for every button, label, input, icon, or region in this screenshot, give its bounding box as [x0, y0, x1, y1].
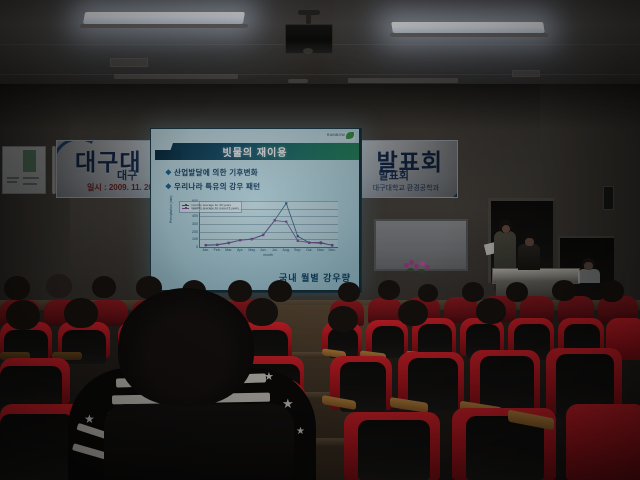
- banner-organizer: 대구대학교 환경공학과: [373, 183, 439, 193]
- projector-pole: [306, 14, 311, 24]
- chart-y-tick-label: 0: [196, 245, 198, 249]
- person-in-back-alcove: [578, 258, 600, 282]
- chart-gridline: [200, 216, 338, 217]
- chart-y-tick-label: 200: [192, 230, 198, 234]
- audience-head: [328, 306, 358, 332]
- chart-x-tick-label: Jun.: [260, 248, 267, 252]
- chart-legend-swatch-icon: [182, 205, 189, 206]
- audience-head: [418, 284, 438, 302]
- flower-arrangement: [402, 258, 432, 274]
- jacket-star-icon: ★: [296, 426, 305, 437]
- chart-x-tick-label: Apr.: [237, 248, 243, 252]
- projector-lens-icon: [303, 48, 313, 54]
- back-person-face: [584, 262, 593, 270]
- audience-head: [6, 300, 40, 330]
- chart-x-tick-label: Jul.: [272, 248, 278, 252]
- audience-head: [228, 280, 252, 302]
- chart-x-tick-label: Oct.: [306, 248, 313, 252]
- wall-shadow: [0, 84, 640, 130]
- chart-x-tick-label: Dec.: [329, 248, 336, 252]
- audience-head: [552, 280, 576, 301]
- auditorium-scene: 대구대 발표회 대구 발표회 일시 : 2009. 11. 20(금) 대구대학…: [0, 0, 640, 480]
- chart-point-marker: [285, 202, 287, 204]
- chart-point-marker: [285, 221, 287, 223]
- jacket-star-icon: ★: [264, 372, 274, 383]
- chart-x-tick-label: Sep.: [294, 248, 301, 252]
- chart-y-tick-label: 300: [192, 222, 198, 226]
- slide-title: 빗물의 재이용: [151, 143, 359, 160]
- chart-point-marker: [320, 241, 322, 243]
- flower-leaf: [418, 269, 425, 273]
- seat-back-panel: [0, 414, 74, 480]
- banner-subtitle-right: 발표회: [379, 167, 409, 183]
- wall-plate-icon: [603, 186, 614, 210]
- fluorescent-light-left: [83, 12, 245, 24]
- flower-petal: [414, 264, 419, 269]
- chart-x-tick-label: Aug.: [283, 248, 290, 252]
- chart-gridline: [200, 224, 338, 225]
- vent-left-icon: [110, 58, 148, 67]
- chart-x-tick-label: Nov.: [317, 248, 324, 252]
- seated-operator-face: [525, 238, 534, 246]
- audience-head: [338, 282, 360, 302]
- audience-head: [246, 298, 278, 326]
- slide-bullet-1-text: 산업발달에 의한 기후변화: [174, 168, 258, 177]
- vent-left-slim: [114, 74, 238, 79]
- slide-bullet-1: ❖산업발달에 의한 기후변화: [165, 167, 258, 178]
- banner-subtitle-left: 대구: [117, 167, 137, 183]
- slide-caption: 국내 월별 강우량: [279, 271, 351, 284]
- chart-point-marker: [297, 235, 299, 237]
- slide-bullet-2: ❖우리나라 특유의 강우 패턴: [165, 181, 260, 192]
- foreground-attendee-head: [118, 288, 254, 406]
- audience-head: [92, 276, 116, 298]
- poster-graphic: [23, 150, 36, 172]
- presentation-slide: 빗물의 재이용 RAINBOW ❖산업발달에 의한 기후변화 ❖우리나라 특유의…: [151, 129, 359, 290]
- flower-petal: [420, 261, 425, 266]
- vent-right-slim: [348, 78, 458, 83]
- bullet-marker-icon: ❖: [165, 168, 172, 177]
- flower-petal: [409, 260, 414, 265]
- chart-legend-item-1: monthly average for recent 5 years: [182, 207, 239, 210]
- flower-petal: [425, 265, 430, 270]
- poster-text-line: [7, 181, 17, 183]
- seated-operator-body: [518, 244, 540, 270]
- light-housing-right: [390, 33, 549, 37]
- audience-head: [600, 280, 624, 302]
- audience-head: [398, 300, 428, 326]
- vent-right-icon: [512, 70, 540, 77]
- jacket-star-icon: ★: [84, 414, 95, 425]
- chart-x-axis-title: month: [263, 253, 272, 257]
- chart-x-tick-label: May: [248, 248, 255, 252]
- chart-point-marker: [308, 241, 310, 243]
- audience-head: [64, 298, 98, 328]
- poster-text-line: [23, 183, 37, 185]
- chart-point-marker: [228, 242, 230, 244]
- foreground-seat-back-panel: [104, 404, 294, 480]
- chart-point-marker: [262, 234, 264, 236]
- slide-logo-text: RAINBOW: [327, 133, 345, 137]
- bullet-marker-icon: ❖: [165, 182, 172, 191]
- audience-head: [476, 298, 506, 324]
- audience-head: [268, 280, 292, 302]
- chart-legend-label: monthly average for recent 5 years: [191, 207, 239, 210]
- flower-leaf: [407, 268, 414, 272]
- chart-y-axis-title: Precipitation (mm): [169, 195, 173, 223]
- chart-x-tick-label: Mar.: [225, 248, 232, 252]
- chart-gridline: [200, 239, 338, 240]
- poster-text-line: [23, 177, 39, 179]
- back-person-body: [578, 269, 600, 283]
- audience-head: [462, 282, 484, 302]
- chart-x-tick-label: Jan.: [202, 248, 209, 252]
- chart-legend-swatch-icon: [182, 208, 189, 209]
- chart-x-tick-label: Feb.: [214, 248, 221, 252]
- audience-head: [378, 280, 400, 300]
- audience-head: [506, 282, 528, 302]
- chart-y-tick-label: 100: [192, 237, 198, 241]
- light-housing-left: [80, 24, 249, 28]
- rainfall-chart: Precipitation (mm) 0100200300400500600Ja…: [173, 199, 343, 261]
- chart-point-marker: [216, 244, 218, 246]
- seat-back-panel: [358, 420, 430, 480]
- slide-bullet-2-text: 우리나라 특유의 강우 패턴: [174, 182, 260, 191]
- chart-y-tick-label: 400: [192, 214, 198, 218]
- audience-head: [46, 274, 72, 298]
- standing-presenter-face: [502, 225, 510, 233]
- poster-text-line: [7, 177, 19, 179]
- chart-gridline: [200, 232, 338, 233]
- seat[interactable]: [566, 404, 640, 480]
- ceiling-seam: [0, 74, 640, 75]
- fluorescent-light-right: [391, 22, 545, 33]
- audience-head: [4, 276, 30, 300]
- wall-poster: [2, 146, 46, 194]
- chart-legend: monthly average for 30 yearsmonthly aver…: [179, 201, 242, 213]
- chart-point-marker: [274, 219, 276, 221]
- vent-center-slim: [288, 79, 308, 83]
